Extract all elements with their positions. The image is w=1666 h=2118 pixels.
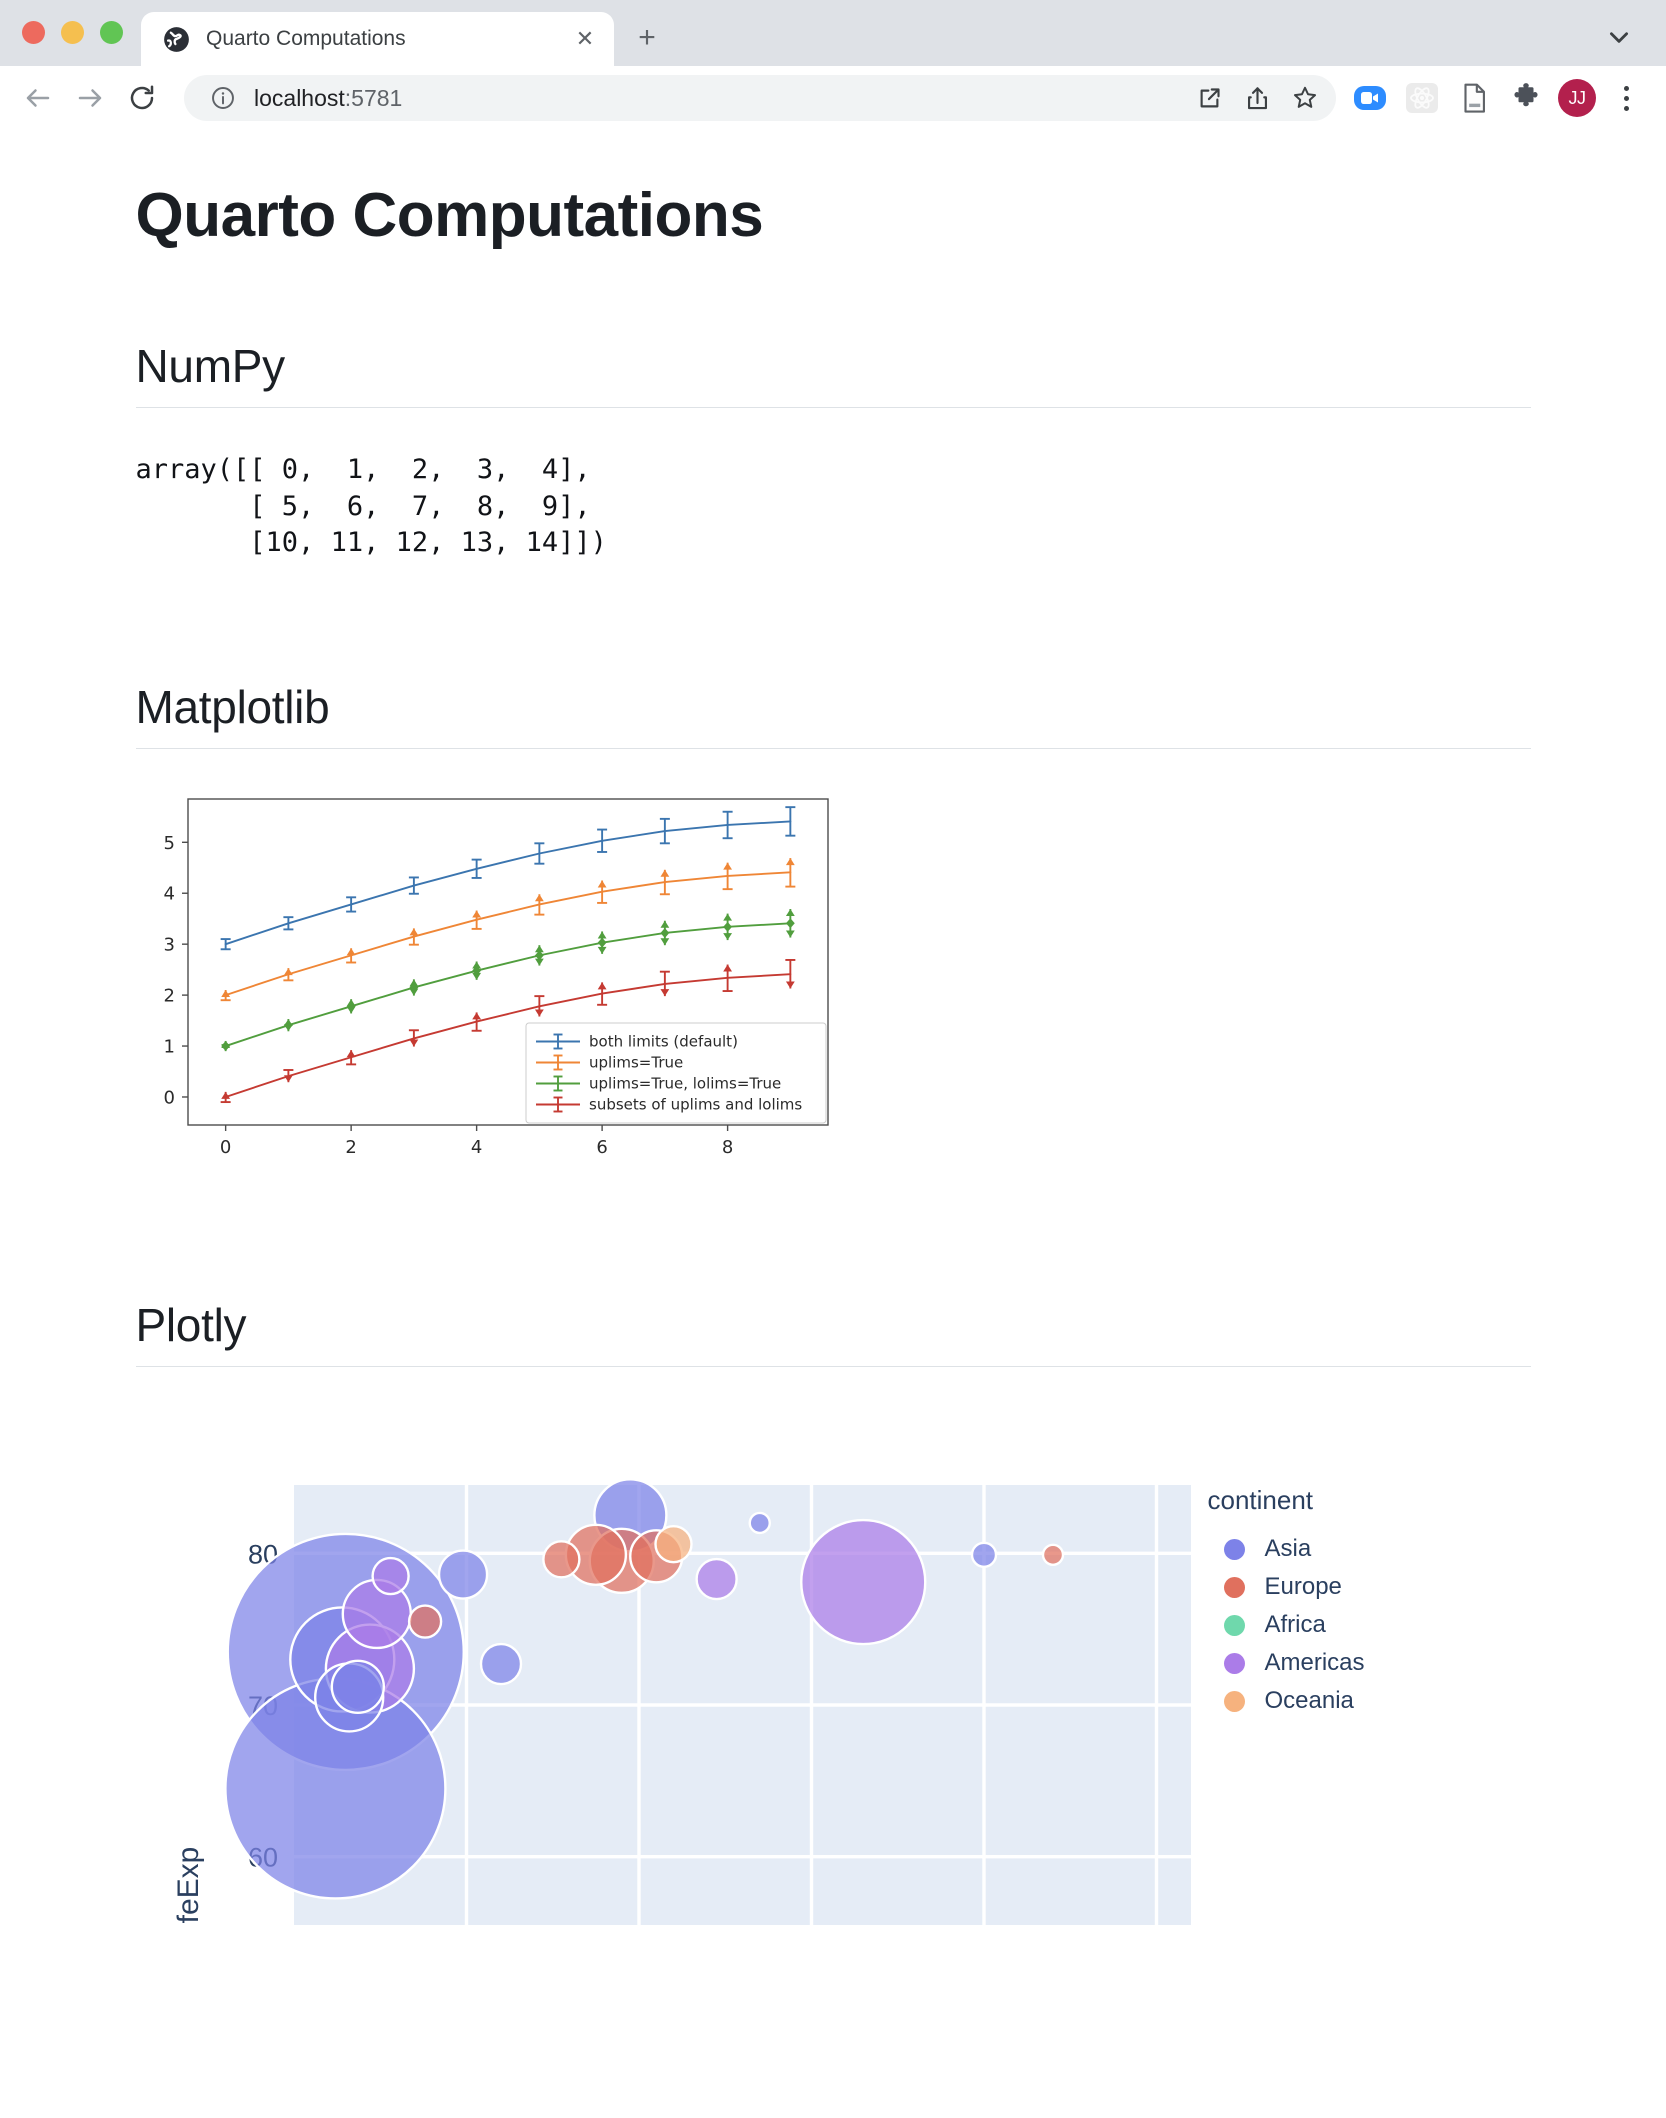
url-port: :5781	[345, 85, 403, 111]
legend-label: Asia	[1265, 1535, 1312, 1563]
star-icon[interactable]	[1288, 81, 1322, 115]
bubble-marker	[972, 1543, 996, 1567]
heading-rule	[136, 407, 1531, 408]
heading-rule	[136, 748, 1531, 749]
legend-swatch	[1224, 1539, 1245, 1560]
legend-label: subsets of uplims and lolims	[589, 1096, 802, 1114]
legend-swatch	[1224, 1653, 1245, 1674]
section-heading-matplotlib: Matplotlib	[136, 681, 1531, 734]
bubble-marker	[749, 1513, 769, 1533]
legend-swatch	[1224, 1615, 1245, 1636]
x-tick-label: 2	[345, 1137, 356, 1158]
section-matplotlib: Matplotlib 02468012345both limits (defau…	[136, 681, 1531, 1171]
bubble-marker	[331, 1661, 383, 1713]
close-window-button[interactable]	[22, 21, 45, 44]
x-tick-label: 0	[219, 1137, 230, 1158]
info-circle-icon[interactable]	[206, 81, 240, 115]
legend: both limits (default)uplims=Trueuplims=T…	[526, 1023, 826, 1123]
legend-label: Americas	[1265, 1649, 1365, 1677]
browser-toolbar: localhost:5781	[0, 66, 1666, 130]
bubble-marker	[439, 1551, 487, 1599]
puzzle-extensions-icon[interactable]	[1506, 78, 1546, 118]
bubble-marker	[409, 1606, 441, 1638]
browser-window: Quarto Computations ✕ +	[0, 0, 1666, 130]
bubble-marker	[696, 1559, 736, 1599]
heading-rule	[136, 1366, 1531, 1367]
bubble-marker	[372, 1558, 408, 1594]
legend-label: Oceania	[1265, 1687, 1354, 1715]
browser-tab[interactable]: Quarto Computations ✕	[141, 12, 614, 66]
legend-item-oceania[interactable]: Oceania	[1208, 1682, 1365, 1720]
kebab-menu-icon[interactable]	[1608, 86, 1644, 111]
tab-title: Quarto Computations	[206, 27, 554, 51]
legend-swatch	[1224, 1691, 1245, 1712]
y-tick-label: 5	[163, 833, 174, 854]
y-tick-label: 2	[163, 986, 174, 1007]
section-heading-numpy: NumPy	[136, 340, 1531, 393]
matplotlib-figure: 02468012345both limits (default)uplims=T…	[136, 791, 836, 1171]
maximize-window-button[interactable]	[100, 21, 123, 44]
y-tick-label: 4	[163, 884, 174, 905]
react-devtools-icon[interactable]	[1402, 78, 1442, 118]
bubble-marker	[801, 1520, 925, 1644]
arrow-left-icon[interactable]	[14, 74, 62, 122]
bubble-marker	[655, 1526, 691, 1562]
legend-label: Europe	[1265, 1573, 1342, 1601]
legend-label: uplims=True	[589, 1054, 683, 1072]
y-tick-label: 0	[163, 1088, 174, 1109]
tab-strip: Quarto Computations ✕ +	[0, 0, 1666, 66]
new-tab-button[interactable]: +	[624, 15, 670, 61]
section-numpy: NumPy array([[ 0, 1, 2, 3, 4], [ 5, 6, 7…	[136, 340, 1531, 561]
bubble-marker	[1043, 1545, 1063, 1565]
page-title: Quarto Computations	[136, 182, 1531, 250]
bubble-marker	[481, 1644, 521, 1684]
window-controls	[0, 21, 141, 66]
y-axis-title: feExp	[172, 1847, 205, 1924]
plotly-legend: continent AsiaEuropeAfricaAmericasOceani…	[1208, 1485, 1365, 1720]
x-tick-label: 8	[721, 1137, 732, 1158]
address-bar[interactable]: localhost:5781	[184, 75, 1336, 121]
plotly-figure[interactable]: 607080feExp continent AsiaEuropeAfricaAm…	[136, 1465, 1531, 1925]
arrow-right-icon[interactable]	[66, 74, 114, 122]
avatar[interactable]: JJ	[1558, 79, 1596, 117]
extensions-bar: JJ	[1350, 78, 1644, 118]
numpy-output-block: array([[ 0, 1, 2, 3, 4], [ 5, 6, 7, 8, 9…	[136, 452, 1531, 561]
share-icon[interactable]	[1240, 81, 1274, 115]
y-tick-label: 1	[163, 1037, 174, 1058]
bubble-marker	[543, 1542, 579, 1578]
document-extension-icon[interactable]	[1454, 78, 1494, 118]
legend-item-europe[interactable]: Europe	[1208, 1568, 1365, 1606]
x-tick-label: 6	[596, 1137, 607, 1158]
globe-icon	[163, 26, 190, 53]
open-in-new-icon[interactable]	[1192, 81, 1226, 115]
matplotlib-axes: 02468012345both limits (default)uplims=T…	[136, 791, 836, 1171]
section-plotly: Plotly 607080feExp continent AsiaEuropeA…	[136, 1299, 1531, 1925]
minimize-window-button[interactable]	[61, 21, 84, 44]
url-text[interactable]: localhost:5781	[254, 85, 1178, 112]
chevron-down-icon[interactable]	[1602, 20, 1636, 54]
reload-icon[interactable]	[118, 74, 166, 122]
y-tick-label: 3	[163, 935, 174, 956]
zoom-extension-icon[interactable]	[1350, 78, 1390, 118]
legend-items: AsiaEuropeAfricaAmericasOceania	[1208, 1530, 1365, 1720]
url-host: localhost	[254, 85, 345, 111]
legend-title: continent	[1208, 1485, 1365, 1516]
legend-label: uplims=True, lolims=True	[589, 1075, 781, 1093]
legend-swatch	[1224, 1577, 1245, 1598]
section-heading-plotly: Plotly	[136, 1299, 1531, 1352]
x-tick-label: 4	[470, 1137, 481, 1158]
document-content: Quarto Computations NumPy array([[ 0, 1,…	[136, 130, 1531, 1925]
legend-label: Africa	[1265, 1611, 1326, 1639]
legend-item-africa[interactable]: Africa	[1208, 1606, 1365, 1644]
legend-label: both limits (default)	[589, 1033, 738, 1051]
close-icon[interactable]: ✕	[570, 24, 600, 54]
legend-item-asia[interactable]: Asia	[1208, 1530, 1365, 1568]
legend-item-americas[interactable]: Americas	[1208, 1644, 1365, 1682]
page-viewport: Quarto Computations NumPy array([[ 0, 1,…	[0, 130, 1666, 2118]
